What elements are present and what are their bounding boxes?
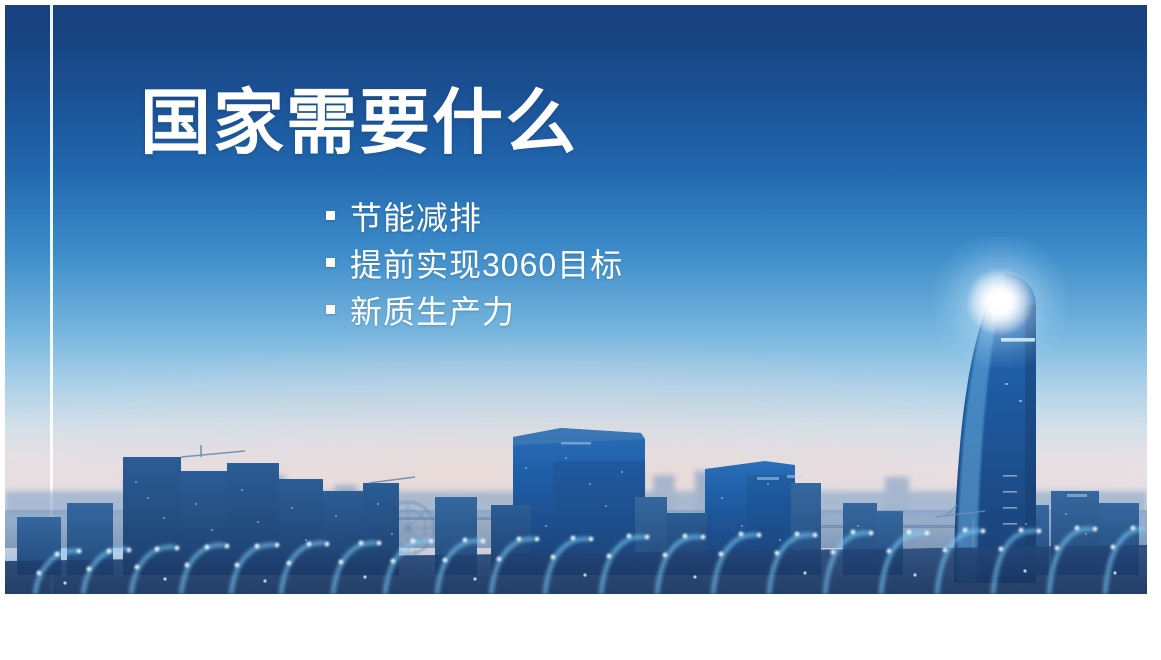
bullet-text: 新质生产力 <box>350 287 515 333</box>
square-bullet-icon <box>326 258 335 267</box>
list-item: 节能减排 <box>326 192 623 239</box>
square-bullet-icon <box>326 211 335 220</box>
list-item: 新质生产力 <box>326 286 623 333</box>
presentation-slide: 国家需要什么 节能减排 提前实现3060目标 新质生产力 <box>0 0 1161 660</box>
bullet-text: 提前实现3060目标 <box>350 240 623 286</box>
list-item: 提前实现3060目标 <box>326 239 623 286</box>
slide-title: 国家需要什么 <box>140 84 578 164</box>
bullet-text: 节能减排 <box>350 193 482 239</box>
square-bullet-icon <box>326 305 335 314</box>
slide-footer: 京芯新材料 JINGXIN NANO MATERIALS <box>0 594 1161 660</box>
bullet-list: 节能减排 提前实现3060目标 新质生产力 <box>326 192 623 333</box>
